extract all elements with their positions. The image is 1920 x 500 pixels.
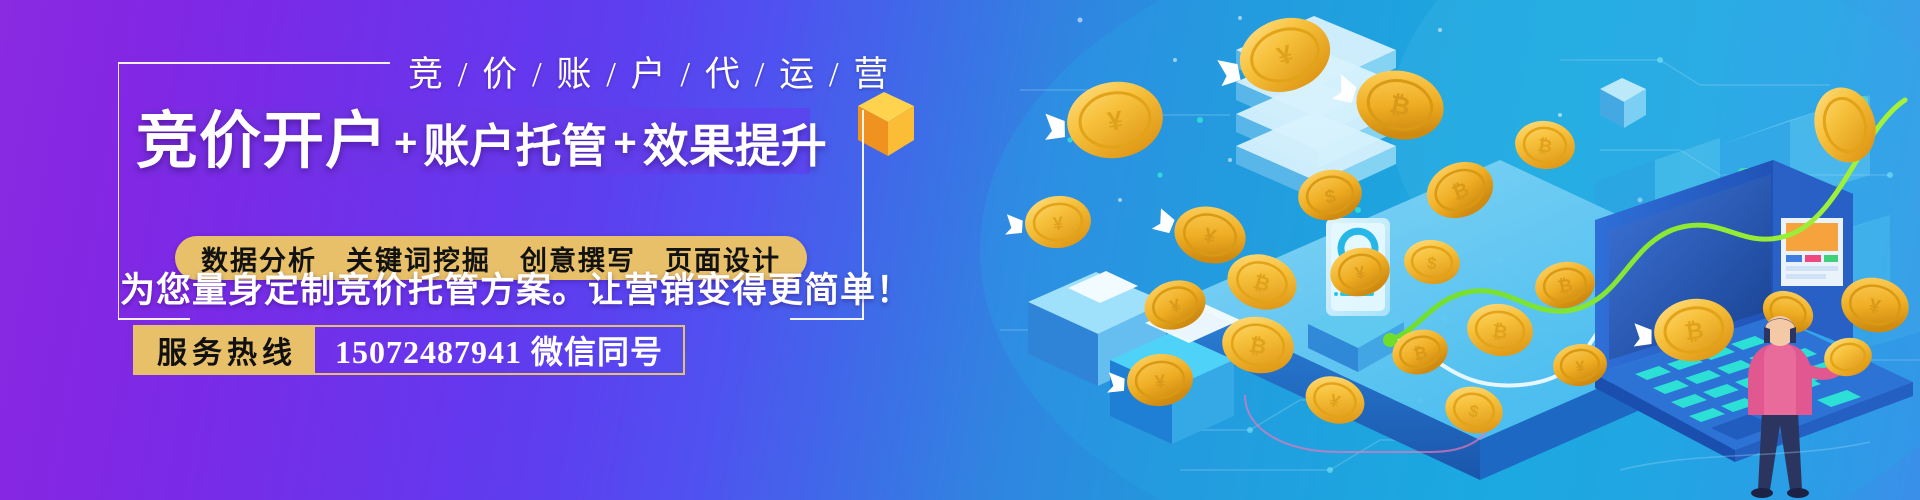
banner-tagline: 为您量身定制竞价托管方案。让营销变得更简单！ — [120, 262, 912, 313]
headline-plus-2: + — [607, 121, 642, 165]
hotline-phone-number[interactable]: 15072487941 微信同号 — [315, 327, 683, 373]
bracket-left-line — [118, 62, 119, 320]
svg-text:₿: ₿ — [1491, 321, 1509, 344]
headline-plus-1: + — [388, 121, 423, 165]
banner-content: 竞 / 价 / 账 / 户 / 代 / 运 / 营 竞价开户+账户托管+效果提升… — [0, 0, 960, 500]
headline-part-2: 账户托管 — [423, 120, 607, 172]
svg-text:¥: ¥ — [1575, 359, 1586, 377]
bracket-bottom-line — [118, 318, 190, 320]
hotline-label: 服务热线 — [135, 327, 315, 373]
svg-text:₿: ₿ — [1536, 135, 1553, 157]
banner-eyebrow: 竞 / 价 / 账 / 户 / 代 / 运 / 营 — [408, 46, 891, 97]
promo-banner: ¥ ₿ ¥ ¥ — [0, 0, 1920, 500]
svg-text:₿: ₿ — [1683, 317, 1705, 345]
headline-part-3: 效果提升 — [643, 120, 827, 172]
hotline-bar[interactable]: 服务热线 15072487941 微信同号 — [133, 325, 685, 375]
bracket-top-line — [118, 62, 390, 64]
headline-part-1: 竞价开户 — [136, 107, 388, 176]
bracket-right-bottom-line — [790, 318, 864, 320]
banner-headline: 竞价开户+账户托管+效果提升 — [136, 106, 827, 194]
